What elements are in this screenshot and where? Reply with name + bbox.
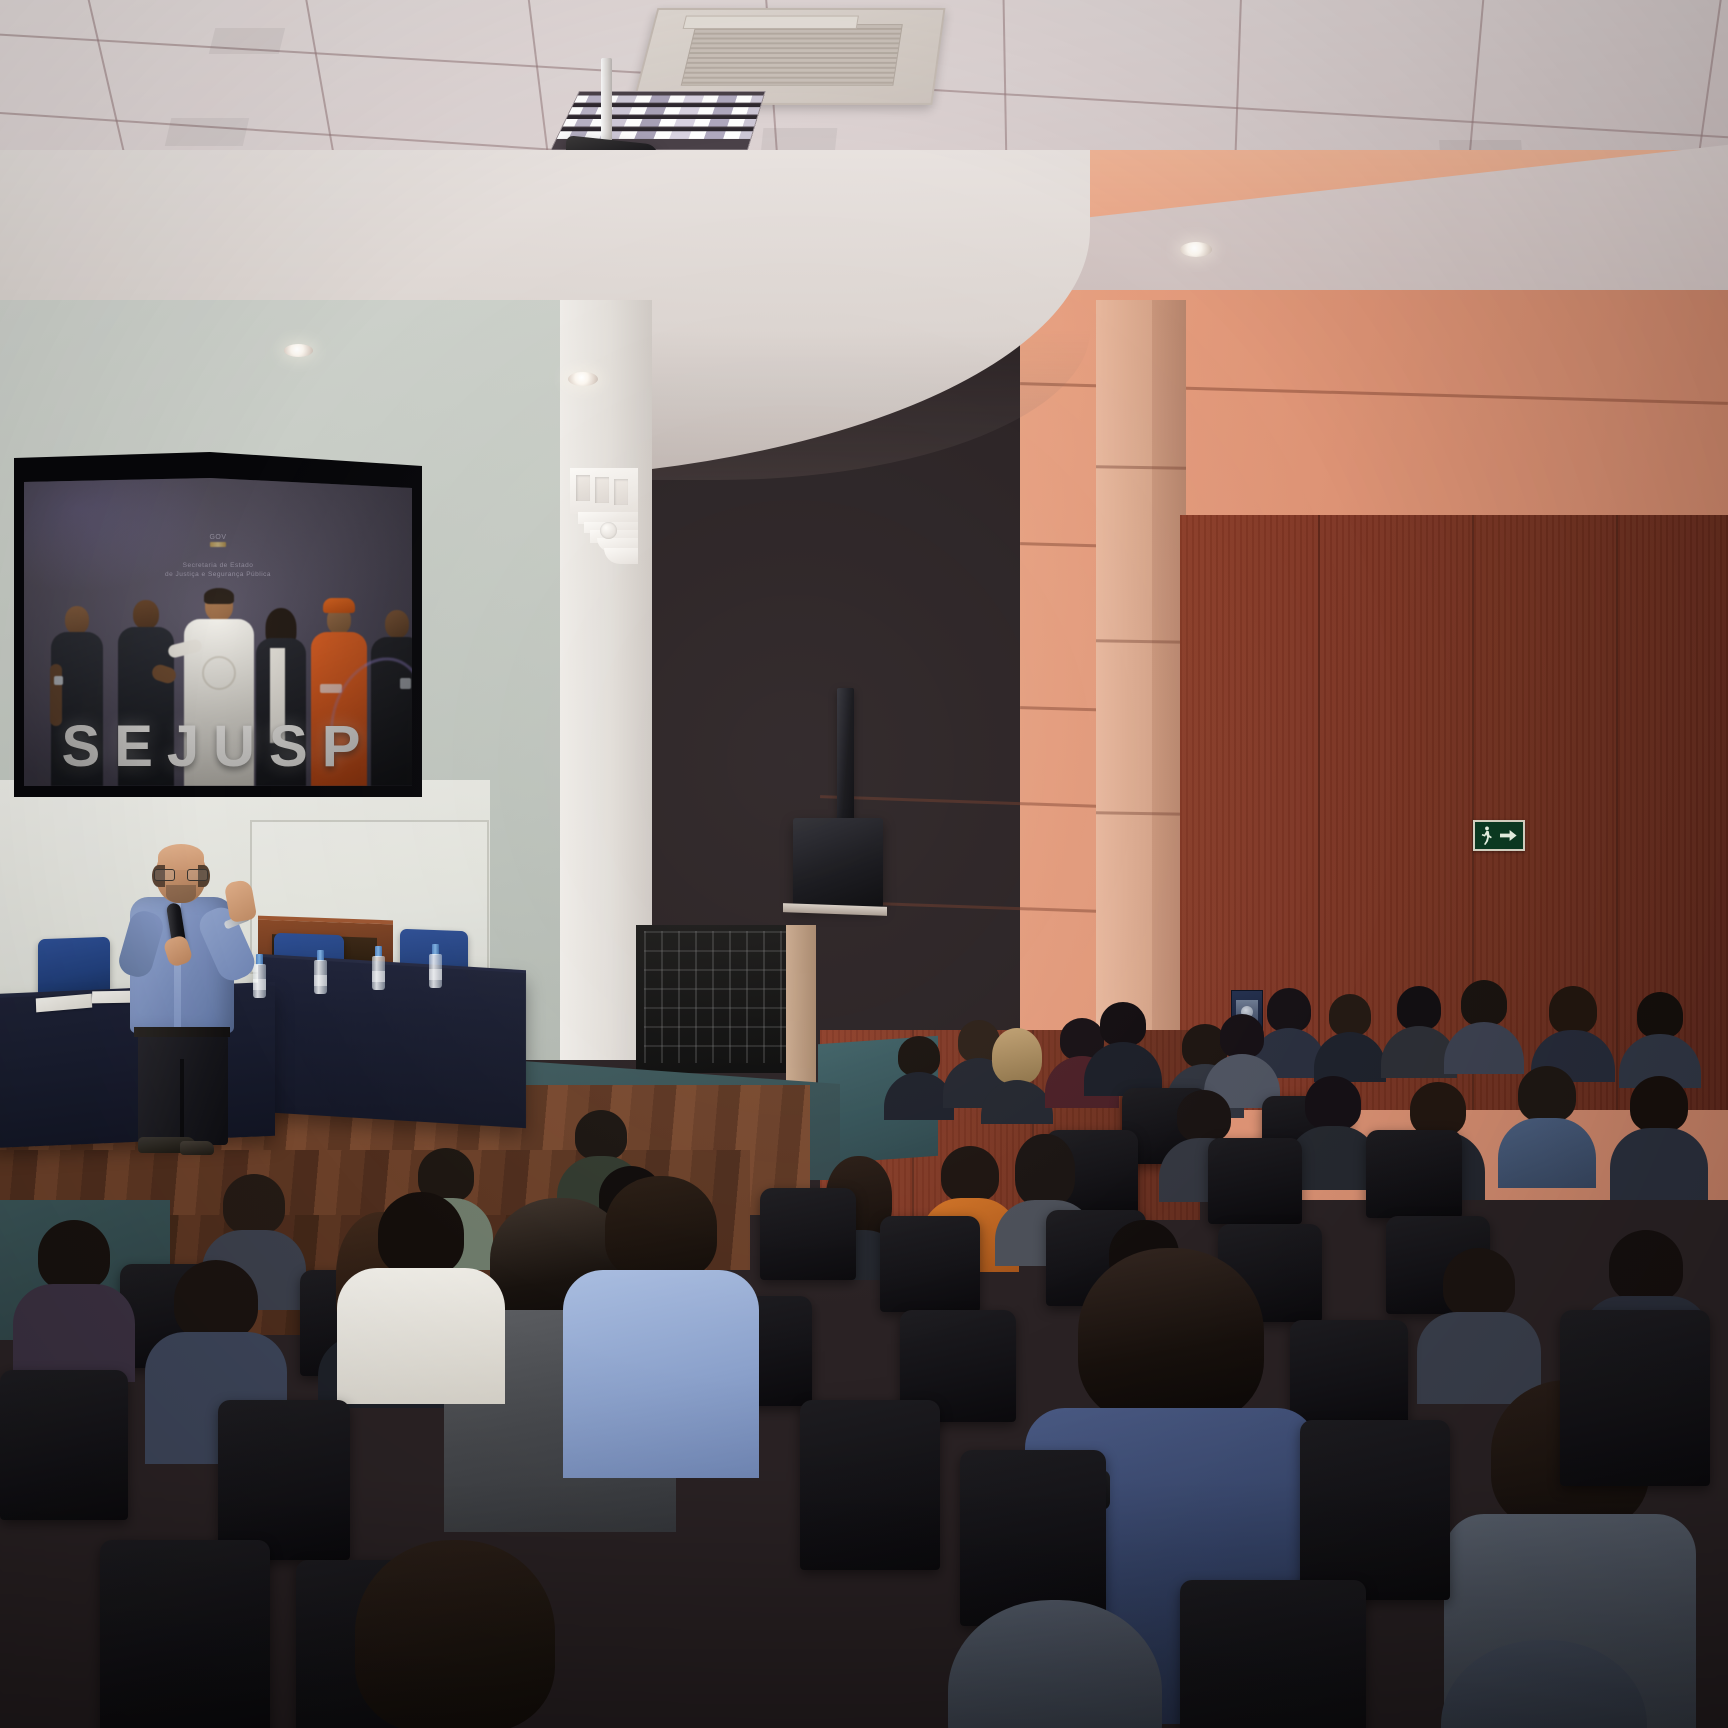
audience-member-glasses — [1296, 1076, 1370, 1188]
downlight-icon — [1180, 242, 1212, 257]
audience-seating — [0, 980, 1728, 1728]
presenter-beard — [166, 885, 196, 903]
audience-member-white-shirt — [356, 1192, 486, 1402]
ceiling-access-tile — [165, 118, 249, 146]
audience-member — [1628, 992, 1692, 1084]
audience-member — [1430, 1248, 1528, 1400]
screen-vignette — [24, 478, 412, 786]
audience-member — [1452, 980, 1516, 1072]
audience-member — [26, 1220, 122, 1380]
emergency-exit-sign — [1473, 820, 1525, 851]
theater-seat[interactable] — [1180, 1580, 1366, 1728]
audience-member — [1620, 1076, 1698, 1198]
running-figure-icon — [1481, 826, 1493, 845]
theater-seat[interactable] — [1208, 1138, 1302, 1224]
ac-grille — [680, 24, 903, 85]
audience-member-denim — [1508, 1066, 1586, 1186]
audience-member — [890, 1036, 948, 1116]
eyeglasses-icon — [154, 869, 208, 879]
theater-seat[interactable] — [1300, 1420, 1450, 1600]
theater-seat[interactable] — [0, 1370, 128, 1520]
audience-member-frontmost — [1424, 1640, 1664, 1728]
audience-member — [1540, 986, 1606, 1078]
downlight-icon — [284, 344, 313, 357]
theater-seat[interactable] — [1366, 1130, 1462, 1218]
audience-member-frontmost — [930, 1600, 1180, 1728]
ceiling-access-tile — [209, 28, 285, 54]
right-arrow-icon — [1500, 829, 1517, 842]
theater-seat[interactable] — [218, 1400, 350, 1560]
downlight-icon — [568, 372, 598, 386]
ac-vane — [683, 15, 859, 29]
theater-seat[interactable] — [880, 1216, 980, 1312]
audience-member-blue-shirt — [586, 1176, 736, 1476]
theater-seat[interactable] — [800, 1400, 940, 1570]
audience-member-blonde — [986, 1028, 1048, 1116]
decorative-corbel-molding — [570, 468, 638, 573]
auditorium-photo: GOV Secretaria de Estado de Justiça e Se… — [0, 0, 1728, 1728]
theater-seat[interactable] — [1290, 1320, 1408, 1434]
audience-member — [1320, 994, 1380, 1078]
projection-screen: GOV Secretaria de Estado de Justiça e Se… — [24, 478, 412, 786]
pa-subwoofer — [793, 818, 883, 908]
audience-member — [1388, 986, 1450, 1074]
audience-member-frontmost — [340, 1540, 570, 1728]
audience-member — [1092, 1002, 1154, 1094]
theater-seat[interactable] — [760, 1188, 856, 1280]
theater-seat[interactable] — [1560, 1310, 1710, 1486]
theater-seat[interactable] — [100, 1540, 270, 1728]
